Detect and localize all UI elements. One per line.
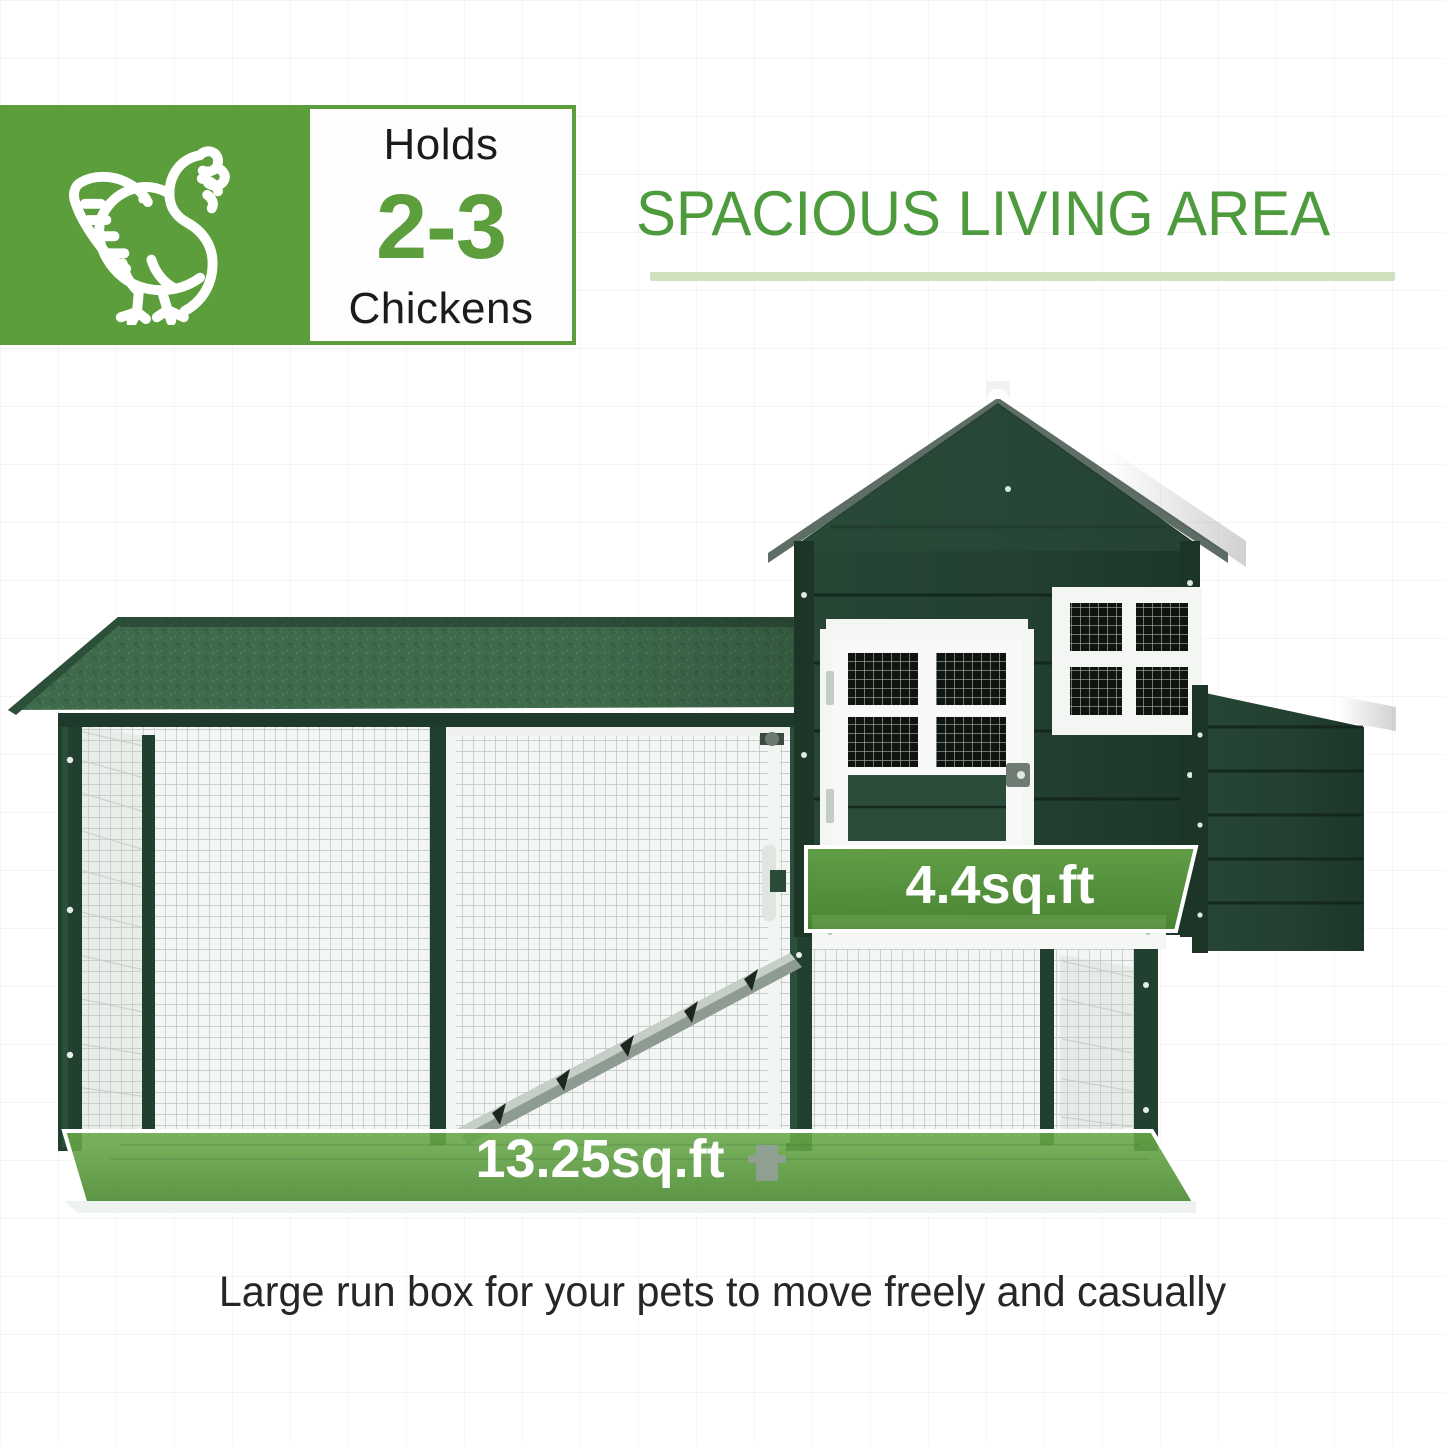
chicken-icon xyxy=(65,125,245,325)
nest-box-extension xyxy=(1188,667,1396,953)
coop-floor-area-overlay: 4.4sq.ft xyxy=(806,847,1196,931)
run-access-door[interactable] xyxy=(446,727,790,1143)
capacity-badge: Holds 2-3 Chickens xyxy=(0,105,576,345)
run-right-mesh xyxy=(812,947,1134,1145)
badge-holds-label: Holds xyxy=(384,123,499,167)
badge-unit-label: Chickens xyxy=(349,287,534,331)
run-area-value: 13.25sq.ft xyxy=(475,1129,724,1189)
coop-window xyxy=(1052,587,1202,735)
badge-text-panel: Holds 2-3 Chickens xyxy=(310,105,576,345)
badge-icon-panel xyxy=(0,105,310,345)
headline-underline xyxy=(650,272,1395,281)
caption-text: Large run box for your pets to move free… xyxy=(29,1268,1416,1317)
headline-block: SPACIOUS LIVING AREA xyxy=(636,178,1426,281)
run-roof xyxy=(8,617,800,715)
coop-door[interactable] xyxy=(820,619,1034,845)
door-hinge-icon xyxy=(760,732,784,746)
page-title: SPACIOUS LIVING AREA xyxy=(636,178,1387,250)
coop-area-value: 4.4sq.ft xyxy=(905,855,1094,915)
product-illustration: 4.4sq.ft 13.25sq.ft xyxy=(0,355,1445,1245)
run-floor-area-overlay: 13.25sq.ft xyxy=(64,1129,1196,1205)
badge-capacity-count: 2-3 xyxy=(376,181,506,273)
door-handle[interactable] xyxy=(1006,763,1030,787)
run-base-rail xyxy=(64,1201,1196,1213)
